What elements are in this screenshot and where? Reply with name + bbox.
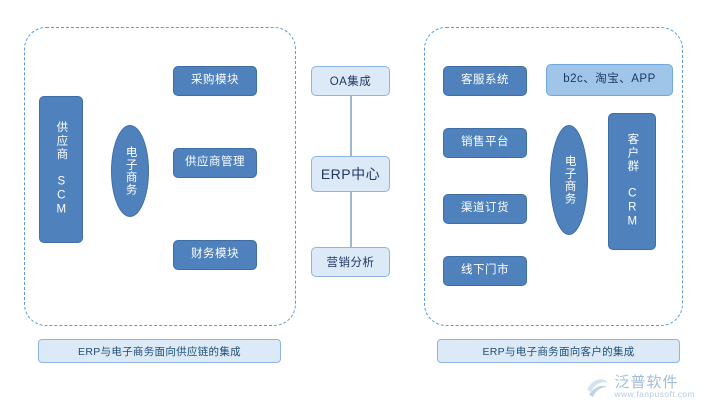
node-customer-crm[interactable]: 客户群 CRM <box>608 113 656 250</box>
caption-customer: ERP与电子商务面向客户的集成 <box>437 339 680 363</box>
connector-erp-to-marketing <box>350 192 352 247</box>
node-channel-ordering[interactable]: 渠道订货 <box>443 194 527 224</box>
caption-supply-chain: ERP与电子商务面向供应链的集成 <box>38 339 281 363</box>
node-supplier-management[interactable]: 供应商管理 <box>173 148 257 178</box>
node-erp-center[interactable]: ERP中心 <box>311 156 390 192</box>
node-marketing-analysis[interactable]: 营销分析 <box>311 247 390 277</box>
node-finance-module[interactable]: 财务模块 <box>173 240 257 270</box>
watermark-name: 泛普软件 <box>615 375 696 391</box>
node-customer-service[interactable]: 客服系统 <box>443 66 527 96</box>
node-offline-store[interactable]: 线下门市 <box>443 256 527 286</box>
connector-oa-to-erp <box>350 96 352 156</box>
watermark-url: www.fanpusoft.com <box>615 390 696 399</box>
node-ecommerce-left[interactable]: 电子商务 <box>111 125 149 217</box>
node-supplier-scm[interactable]: 供应商 SCM <box>39 96 83 243</box>
watermark: 泛普软件 www.fanpusoft.com <box>584 374 696 400</box>
node-sales-platform[interactable]: 销售平台 <box>443 128 527 158</box>
node-oa-integration[interactable]: OA集成 <box>311 66 390 96</box>
diagram-canvas: 供应商 SCM 电子商务 采购模块 供应商管理 财务模块 OA集成 ERP中心 … <box>0 0 703 404</box>
node-purchasing-module[interactable]: 采购模块 <box>173 66 257 96</box>
node-b2c-taobao-app[interactable]: b2c、淘宝、APP <box>546 64 673 96</box>
fanpu-logo-icon <box>584 374 610 400</box>
node-ecommerce-right[interactable]: 电子商务 <box>550 125 588 235</box>
